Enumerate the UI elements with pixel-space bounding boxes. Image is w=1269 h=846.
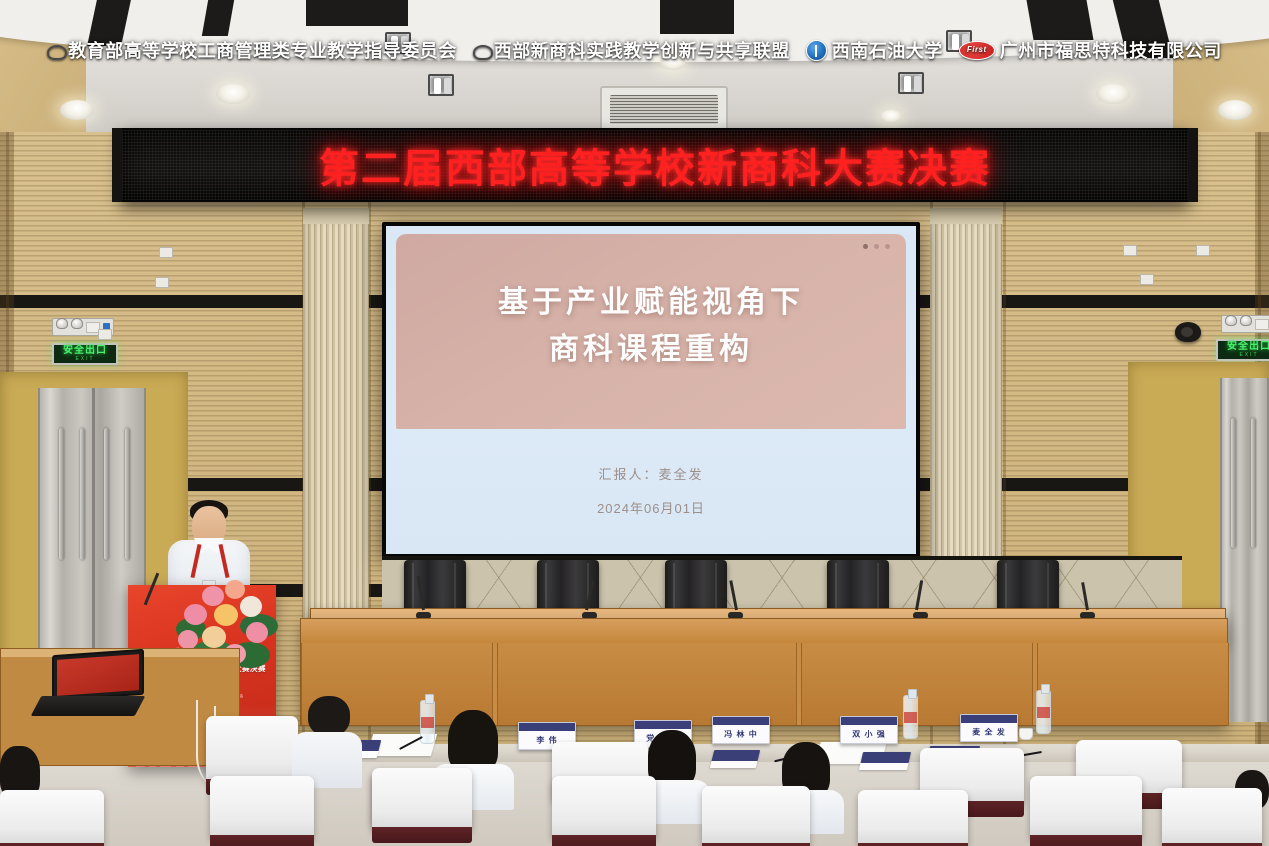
- wall-plate: [98, 329, 112, 340]
- nameplate-label: 麦 全 发: [972, 728, 1005, 738]
- ceiling: [0, 0, 1269, 132]
- slide-date: 2024年06月01日: [386, 498, 916, 517]
- ceiling-spotlight: [428, 74, 454, 96]
- audience-chair[interactable]: [1030, 776, 1142, 838]
- exit-sign-label-cn: 安全出口: [1227, 342, 1269, 352]
- ceiling-ac-vent: [600, 86, 728, 132]
- ceiling-downlight: [60, 100, 94, 120]
- laptop[interactable]: [36, 652, 144, 714]
- slide-title-line2: 商科课程重构: [396, 327, 906, 374]
- audience-chair[interactable]: [210, 776, 314, 838]
- wall-plate: [1196, 245, 1210, 256]
- audience-chair[interactable]: [702, 786, 810, 846]
- laptop-keyboard[interactable]: [31, 696, 146, 716]
- nameplate-label: 双 小 强: [852, 730, 885, 740]
- water-bottle: [903, 695, 918, 739]
- slide-title-line1: 基于产业赋能视角下: [396, 280, 906, 327]
- conference-hall-photo: 安全出口 EXIT 安全出口 EXIT: [0, 0, 1269, 846]
- slide-page-dots: [863, 244, 890, 249]
- ceiling-spotlight: [898, 72, 924, 94]
- exit-sign-label-cn: 安全出口: [63, 346, 107, 356]
- exit-sign-label-en: EXIT: [1239, 353, 1258, 358]
- slide-title: 基于产业赋能视角下 商科课程重构: [396, 280, 906, 373]
- ceiling-downlight: [1096, 84, 1130, 104]
- ceiling-downlight: [216, 84, 250, 104]
- paper-cup: [1019, 728, 1033, 740]
- exit-sign-label-en: EXIT: [75, 357, 94, 362]
- booklet: [859, 752, 911, 770]
- ceiling-spotlight: [385, 32, 411, 54]
- nameplate: 双 小 强: [840, 716, 898, 744]
- audience-head: [308, 696, 350, 736]
- nameplate-label: 冯 林 中: [724, 730, 757, 740]
- audience-chair[interactable]: [206, 716, 298, 782]
- emergency-light-right: [1221, 315, 1269, 333]
- led-banner: 第二届西部高等学校新商科大赛决赛: [120, 128, 1190, 202]
- stage-back-panel: [382, 556, 1182, 614]
- projection-screen-frame: 基于产业赋能视角下 商科课程重构 汇报人：麦全发 2024年06月01日: [382, 222, 920, 558]
- projection-screen: 基于产业赋能视角下 商科课程重构 汇报人：麦全发 2024年06月01日: [386, 226, 916, 554]
- exit-sign-left: 安全出口 EXIT: [52, 343, 118, 365]
- security-camera-icon: [1175, 322, 1201, 342]
- laptop-lid: [52, 649, 144, 701]
- water-bottle: [1036, 690, 1051, 734]
- wall-plate: [1123, 245, 1137, 256]
- audience-chair[interactable]: [858, 790, 968, 846]
- nameplate: 麦 全 发: [960, 714, 1018, 742]
- wall-plate: [159, 247, 173, 258]
- ceiling-downlight: [660, 55, 686, 70]
- audience-chair[interactable]: [1162, 788, 1262, 846]
- exit-sign-right: 安全出口 EXIT: [1216, 339, 1269, 361]
- laptop-screen: [57, 654, 139, 696]
- slide-presenter: 汇报人：麦全发: [386, 464, 916, 483]
- audience-chair[interactable]: [552, 776, 656, 838]
- ceiling-spotlight: [946, 30, 972, 52]
- booklet: [710, 750, 760, 768]
- led-banner-text: 第二届西部高等学校新商科大赛决赛: [319, 136, 991, 194]
- audience-head: [448, 710, 498, 772]
- ceiling-downlight: [880, 110, 902, 123]
- audience-chair[interactable]: [372, 768, 472, 830]
- wall-plate: [155, 277, 169, 288]
- audience-person: [290, 696, 362, 788]
- ceiling-downlight: [1218, 100, 1252, 120]
- audience-chair[interactable]: [0, 790, 104, 846]
- wall-plate: [1140, 274, 1154, 285]
- slide-hero-panel: 基于产业赋能视角下 商科课程重构: [396, 234, 906, 429]
- nameplate: 冯 林 中: [712, 716, 770, 744]
